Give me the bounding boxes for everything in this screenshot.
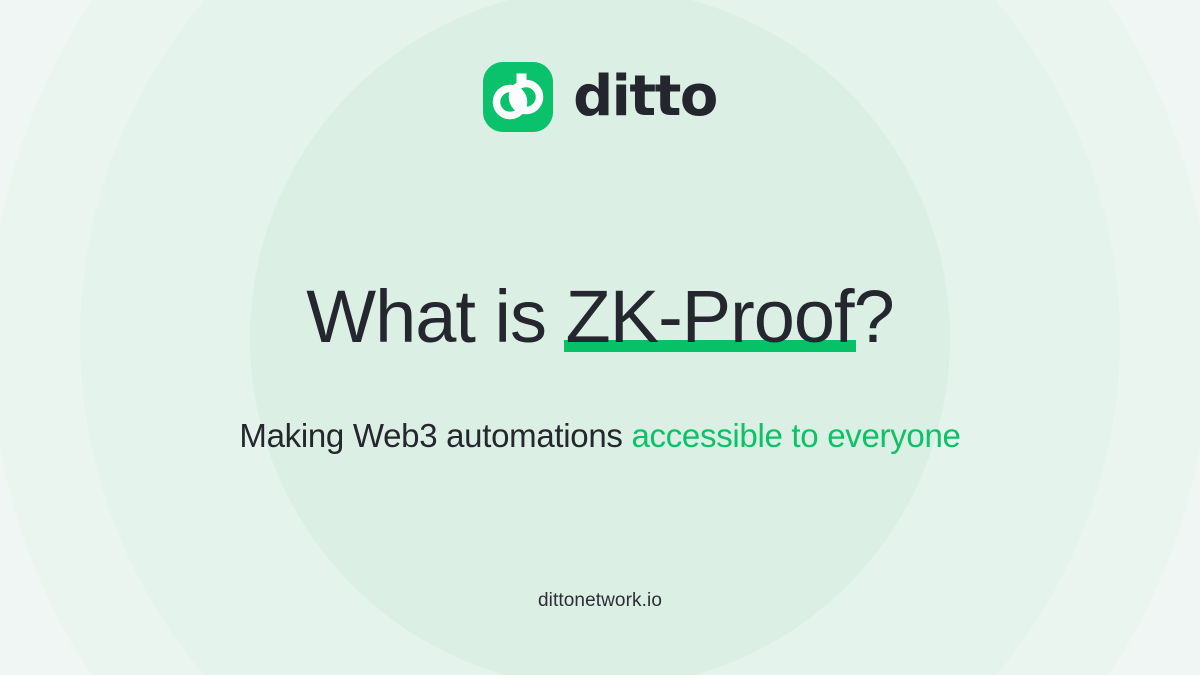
headline-suffix: ?: [854, 275, 894, 358]
headline-block: What is ZK-Proof?: [306, 280, 894, 354]
slide-canvas: ditto What is ZK-Proof? Making Web3 auto…: [0, 0, 1200, 675]
slide-content: ditto What is ZK-Proof? Making Web3 auto…: [0, 0, 1200, 675]
subtitle-lead: Making Web3 automations: [239, 417, 631, 454]
brand-wordmark: ditto: [573, 69, 717, 125]
ditto-logo-mark-icon: [483, 62, 553, 132]
headline-prefix: What is: [306, 275, 565, 358]
subtitle-accent: accessible to everyone: [631, 417, 960, 454]
subtitle: Making Web3 automations accessible to ev…: [239, 418, 960, 454]
page-title: What is ZK-Proof?: [306, 280, 894, 354]
headline-highlight: ZK-Proof: [566, 280, 854, 354]
brand-lockup: ditto: [483, 62, 717, 132]
